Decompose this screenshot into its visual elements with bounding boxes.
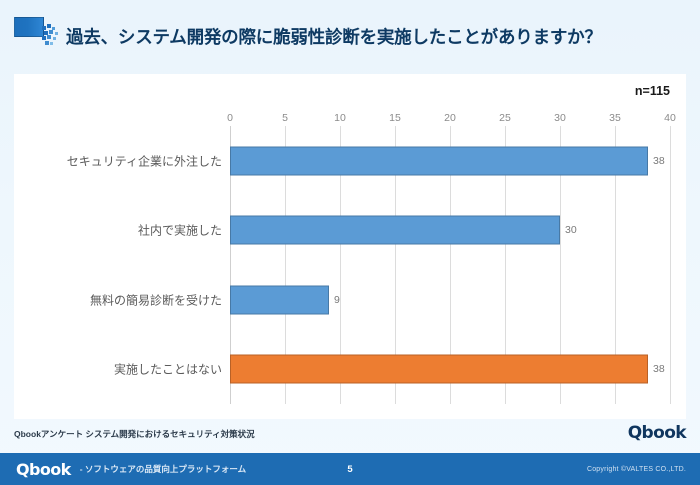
bar [230,285,329,314]
chart-source-caption: Qbookアンケート システム開発におけるセキュリティ対策状況 [14,428,255,440]
qbook-logo: Qbook [628,423,686,443]
bar-row: セキュリティ企業に外注した38 [230,126,670,196]
chart-plot-area: 0510152025303540 セキュリティ企業に外注した38社内で実施した3… [230,112,670,404]
page-title: 過去、システム開発の際に脆弱性診断を実施したことがありますか？ [66,24,602,49]
x-tick-label: 40 [664,112,676,124]
gridline [670,126,671,404]
x-axis-tick-labels: 0510152025303540 [230,112,670,126]
chart-card: n=115 0510152025303540 セキュリティ企業に外注した38社内… [14,74,686,419]
category-label: セキュリティ企業に外注した [67,152,222,169]
slide-header: 過去、システム開発の際に脆弱性診断を実施したことがありますか？ [0,14,700,58]
bar [230,216,560,245]
x-tick-label: 10 [334,112,346,124]
x-tick-label: 5 [282,112,288,124]
copyright-notice: Copyright ©VALTES CO.,LTD. [587,466,686,473]
bar-row: 社内で実施した30 [230,196,670,266]
bar-value-label: 38 [653,363,665,375]
x-tick-label: 15 [389,112,401,124]
slide-footer-bar: Qbook - ソフトウェアの品質向上プラットフォーム 5 Copyright … [0,453,700,485]
category-label: 社内で実施した [138,222,222,239]
x-tick-label: 30 [554,112,566,124]
sample-size-label: n=115 [635,84,670,98]
slide-canvas: 過去、システム開発の際に脆弱性診断を実施したことがありますか？ n=115 05… [0,0,700,485]
x-tick-label: 0 [227,112,233,124]
x-tick-label: 35 [609,112,621,124]
bar-value-label: 9 [334,294,340,306]
pixel-bar-icon [14,24,60,49]
bar-row: 無料の簡易診断を受けた9 [230,265,670,335]
chart-bars: セキュリティ企業に外注した38社内で実施した30無料の簡易診断を受けた9実施した… [230,126,670,404]
bar-value-label: 30 [565,224,577,236]
bar [230,355,648,384]
bar-value-label: 38 [653,155,665,167]
bar-row: 実施したことはない38 [230,335,670,405]
x-tick-label: 20 [444,112,456,124]
category-label: 無料の簡易診断を受けた [90,291,222,308]
bar [230,146,648,175]
category-label: 実施したことはない [114,361,222,378]
x-tick-label: 25 [499,112,511,124]
